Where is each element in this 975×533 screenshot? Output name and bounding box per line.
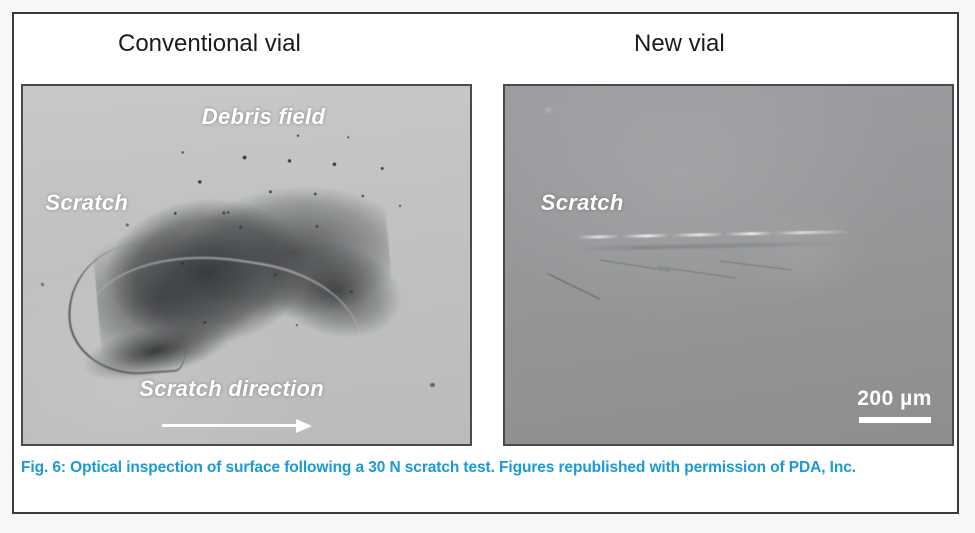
scale-bar-label: 200 µm: [857, 388, 932, 410]
annotation-scratch-direction: Scratch direction: [139, 376, 324, 402]
annotation-scratch: Scratch: [45, 190, 128, 216]
surface-speck-left: [41, 283, 44, 286]
hairline-scratch-2: [599, 259, 670, 271]
micrograph-new-vial: Scratch 200 µm: [503, 84, 954, 446]
surface-blemish: [545, 107, 552, 113]
annotation-debris-field: Debris field: [202, 104, 325, 130]
hairline-scratch-1: [548, 274, 601, 300]
panel-title-new-vial: New vial: [634, 30, 725, 58]
figure-container: Conventional vial New vial Debris field …: [12, 12, 959, 514]
panel-title-conventional-vial: Conventional vial: [118, 30, 301, 58]
micrograph-conventional-vial: Debris field Scratch Scratch direction: [21, 84, 472, 446]
arrow-head: [296, 419, 312, 433]
hairline-scratch-3: [657, 267, 737, 279]
panel-headings: Conventional vial New vial: [14, 14, 957, 82]
arrow-shaft: [162, 424, 296, 427]
surface-halo: [737, 204, 871, 304]
annotation-scratch: Scratch: [541, 190, 624, 216]
figure-caption: Fig. 6: Optical inspection of surface fo…: [21, 456, 947, 480]
scale-bar: 200 µm: [857, 388, 932, 422]
surface-speck-right: [430, 383, 435, 387]
scale-bar-line: [859, 417, 931, 423]
scratch-direction-arrow-icon: [162, 419, 312, 433]
